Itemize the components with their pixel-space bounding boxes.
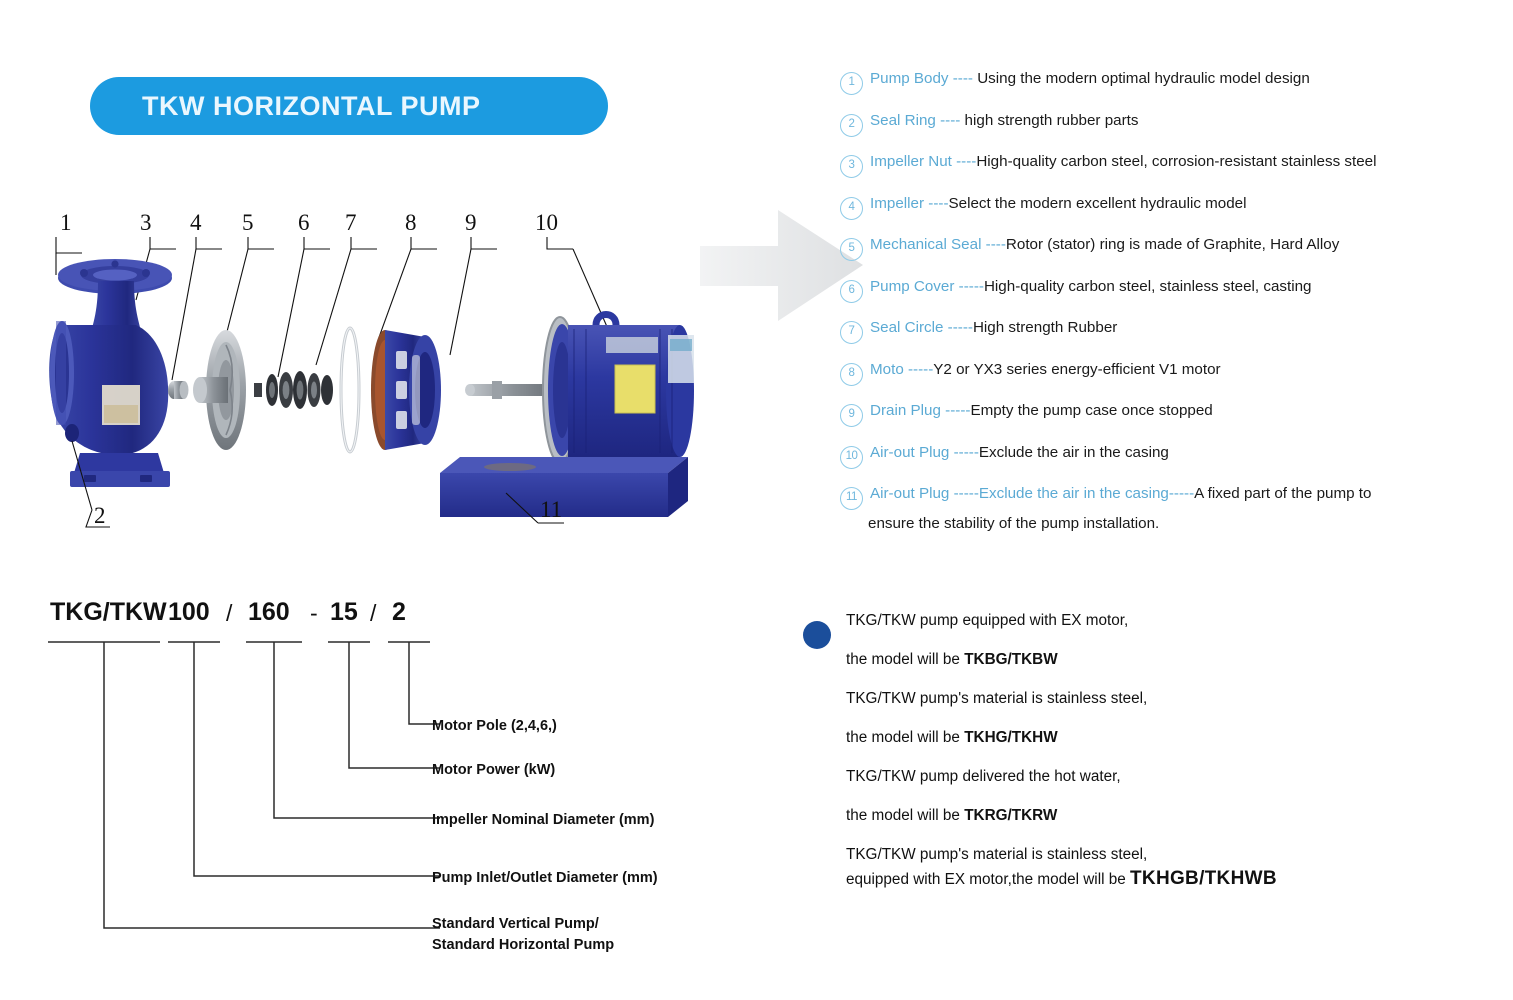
- legend-item: 3 Impeller Nut ----High-quality carbon s…: [840, 153, 1500, 178]
- legend-label: Mechanical Seal: [870, 236, 981, 253]
- legend-dash: -----: [948, 319, 973, 336]
- pump-cover-part: [371, 330, 441, 450]
- legend-text: Mechanical Seal ----Rotor (stator) ring …: [870, 236, 1339, 254]
- code-segment-series: TKG/TKW: [50, 598, 167, 627]
- legend-text: Drain Plug -----Empty the pump case once…: [870, 402, 1213, 420]
- code-separator-2: -: [310, 600, 318, 627]
- impeller-nut-part: [168, 381, 189, 399]
- legend-dash: ----: [928, 195, 948, 212]
- legend-dash: -----: [959, 278, 984, 295]
- exploded-pump-diagram: 1 3 4 5 6 7 8 9 10: [40, 205, 700, 570]
- note-line: TKG/TKW pump's material is stainless ste…: [846, 846, 1400, 864]
- legend-text: Seal Circle -----High strength Rubber: [870, 319, 1117, 337]
- legend-text: Air-out Plug -----Exclude the air in the…: [870, 485, 1371, 503]
- legend-text: Impeller Nut ----High-quality carbon ste…: [870, 153, 1376, 171]
- legend-text: Pump Body ---- Using the modern optimal …: [870, 70, 1310, 88]
- svg-text:5: 5: [242, 210, 254, 235]
- legend-desc: Exclude the air in the casing: [979, 444, 1169, 461]
- legend-item: 5 Mechanical Seal ----Rotor (stator) rin…: [840, 236, 1500, 261]
- model-callout-pump-type: Standard Vertical Pump/ Standard Horizon…: [432, 914, 614, 956]
- legend-dash: ----: [940, 112, 960, 129]
- legend-number: 11: [840, 487, 863, 510]
- legend-label: Moto: [870, 361, 904, 378]
- legend-number: 2: [840, 114, 863, 137]
- legend-label: Air-out Plug: [870, 444, 949, 461]
- legend-dash: ----: [986, 236, 1006, 253]
- note-line-final: equipped with EX motor,the model will be…: [846, 868, 1400, 890]
- legend-desc: high strength rubber parts: [960, 112, 1138, 129]
- parts-legend: 1 Pump Body ---- Using the modern optima…: [840, 70, 1500, 548]
- legend-dash: ----: [956, 153, 976, 170]
- bullet-icon: [803, 621, 831, 649]
- model-callout-motor-pole: Motor Pole (2,4,6,): [432, 718, 557, 734]
- legend-item: 6 Pump Cover -----High-quality carbon st…: [840, 278, 1500, 303]
- legend-number: 10: [840, 446, 863, 469]
- legend-label: Impeller Nut: [870, 153, 952, 170]
- note-text: TKG/TKW pump equipped with EX motor,: [846, 612, 1128, 629]
- code-separator-1: /: [226, 600, 232, 627]
- svg-text:10: 10: [535, 210, 558, 235]
- legend-dash: -----: [945, 402, 970, 419]
- legend-number: 3: [840, 155, 863, 178]
- legend-item-11-line2: ensure the stability of the pump install…: [840, 515, 1500, 532]
- legend-number: 8: [840, 363, 863, 386]
- note-model-code: TKRG/TKRW: [964, 807, 1057, 824]
- legend-number: 4: [840, 197, 863, 220]
- seal-circle-part: [341, 328, 359, 452]
- legend-number: 1: [840, 72, 863, 95]
- legend-number: 5: [840, 238, 863, 261]
- note-model-code-primary: TKHGB/TKHWB: [1130, 868, 1277, 889]
- impeller-part: [193, 330, 246, 450]
- callout-number-group: 1 3 4 5 6 7 8 9 10: [60, 210, 558, 235]
- code-separator-3: /: [370, 600, 376, 627]
- page-title-banner: TKW HORIZONTAL PUMP: [90, 77, 608, 135]
- code-segment-pole: 2: [392, 598, 406, 627]
- legend-text: Moto -----Y2 or YX3 series energy-effici…: [870, 361, 1221, 379]
- code-segment-impeller: 160: [248, 598, 290, 627]
- svg-text:8: 8: [405, 210, 417, 235]
- legend-desc-blue: Exclude the air in the casing: [979, 485, 1169, 502]
- motor-part: [465, 315, 694, 464]
- page-canvas: TKW HORIZONTAL PUMP: [0, 0, 1513, 1000]
- note-line: the model will be TKHG/TKHW: [846, 729, 1400, 747]
- svg-text:1: 1: [60, 210, 72, 235]
- legend-dash-tail: -----: [1169, 485, 1194, 502]
- legend-label: Seal Circle: [870, 319, 943, 336]
- note-text: the model will be: [846, 729, 964, 746]
- note-model-code: TKBG/TKBW: [964, 651, 1057, 668]
- legend-item: 4 Impeller ----Select the modern excelle…: [840, 195, 1500, 220]
- legend-item-11: 11 Air-out Plug -----Exclude the air in …: [840, 485, 1500, 510]
- page-title: TKW HORIZONTAL PUMP: [90, 91, 480, 122]
- note-text: the model will be: [846, 807, 964, 824]
- note-list: TKG/TKW pump equipped with EX motor, the…: [846, 612, 1400, 890]
- svg-text:11: 11: [540, 497, 562, 522]
- legend-label: Pump Cover: [870, 278, 954, 295]
- legend-label: Pump Body: [870, 70, 949, 87]
- code-segment-power: 15: [330, 598, 358, 627]
- note-text: TKG/TKW pump delivered the hot water,: [846, 768, 1121, 785]
- legend-text: Seal Ring ---- high strength rubber part…: [870, 112, 1138, 130]
- legend-number: 7: [840, 321, 863, 344]
- svg-text:3: 3: [140, 210, 152, 235]
- code-segment-inlet: 100: [168, 598, 210, 627]
- svg-text:2: 2: [94, 503, 106, 528]
- legend-label: Seal Ring: [870, 112, 936, 129]
- legend-item: 10 Air-out Plug -----Exclude the air in …: [840, 444, 1500, 469]
- mechanical-seal-part: [254, 371, 333, 409]
- model-callout-pump-type-line1: Standard Vertical Pump/: [432, 914, 614, 935]
- svg-text:7: 7: [345, 210, 357, 235]
- legend-number: 9: [840, 404, 863, 427]
- legend-desc: Y2 or YX3 series energy-efficient V1 mot…: [933, 361, 1220, 378]
- legend-dash: ----: [953, 70, 973, 87]
- legend-item: 1 Pump Body ---- Using the modern optima…: [840, 70, 1500, 95]
- svg-text:4: 4: [190, 210, 202, 235]
- legend-text: Air-out Plug -----Exclude the air in the…: [870, 444, 1169, 462]
- legend-desc: High-quality carbon steel, stainless ste…: [984, 278, 1312, 295]
- svg-text:6: 6: [298, 210, 310, 235]
- legend-dash: -----: [908, 361, 933, 378]
- note-line: the model will be TKBG/TKBW: [846, 651, 1400, 669]
- legend-desc: Using the modern optimal hydraulic model…: [973, 70, 1310, 87]
- model-callout-inlet-dia: Pump Inlet/Outlet Diameter (mm): [432, 870, 658, 886]
- legend-desc-black: A fixed part of the pump to: [1194, 485, 1371, 502]
- model-code-leader-lines: [40, 628, 460, 963]
- model-variant-notes: TKG/TKW pump equipped with EX motor, the…: [800, 612, 1400, 911]
- legend-item: 8 Moto -----Y2 or YX3 series energy-effi…: [840, 361, 1500, 386]
- note-line: TKG/TKW pump delivered the hot water,: [846, 768, 1400, 786]
- pump-body-part: [49, 259, 172, 487]
- legend-label: Drain Plug: [870, 402, 941, 419]
- legend-label: Air-out Plug: [870, 485, 949, 502]
- legend-desc: Select the modern excellent hydraulic mo…: [949, 195, 1247, 212]
- note-text: TKG/TKW pump's material is stainless ste…: [846, 846, 1147, 863]
- note-line: the model will be TKRG/TKRW: [846, 807, 1400, 825]
- legend-dash: -----: [954, 444, 979, 461]
- note-line: TKG/TKW pump's material is stainless ste…: [846, 690, 1400, 708]
- note-line: TKG/TKW pump equipped with EX motor,: [846, 612, 1400, 630]
- legend-desc: High strength Rubber: [973, 319, 1117, 336]
- legend-item: 9 Drain Plug -----Empty the pump case on…: [840, 402, 1500, 427]
- legend-item: 2 Seal Ring ---- high strength rubber pa…: [840, 112, 1500, 137]
- base-plate-part: [440, 457, 688, 517]
- legend-desc: High-quality carbon steel, corrosion-res…: [976, 153, 1376, 170]
- note-model-code: TKHG/TKHW: [964, 729, 1057, 746]
- note-text: equipped with EX motor,the model will be: [846, 871, 1130, 888]
- legend-desc: Empty the pump case once stopped: [970, 402, 1212, 419]
- legend-text: Impeller ----Select the modern excellent…: [870, 195, 1247, 213]
- legend-text: Pump Cover -----High-quality carbon stee…: [870, 278, 1312, 296]
- model-callout-motor-power: Motor Power (kW): [432, 762, 555, 778]
- note-text: the model will be: [846, 651, 964, 668]
- legend-dash: -----: [954, 485, 979, 502]
- model-code-breakdown: TKG/TKW 100 / 160 - 15 / 2: [40, 598, 720, 968]
- model-callout-impeller-dia: Impeller Nominal Diameter (mm): [432, 812, 654, 828]
- legend-item: 7 Seal Circle -----High strength Rubber: [840, 319, 1500, 344]
- legend-label: Impeller: [870, 195, 924, 212]
- svg-text:9: 9: [465, 210, 477, 235]
- model-callout-pump-type-line2: Standard Horizontal Pump: [432, 935, 614, 956]
- legend-desc: Rotor (stator) ring is made of Graphite,…: [1006, 236, 1339, 253]
- note-text: TKG/TKW pump's material is stainless ste…: [846, 690, 1147, 707]
- legend-number: 6: [840, 280, 863, 303]
